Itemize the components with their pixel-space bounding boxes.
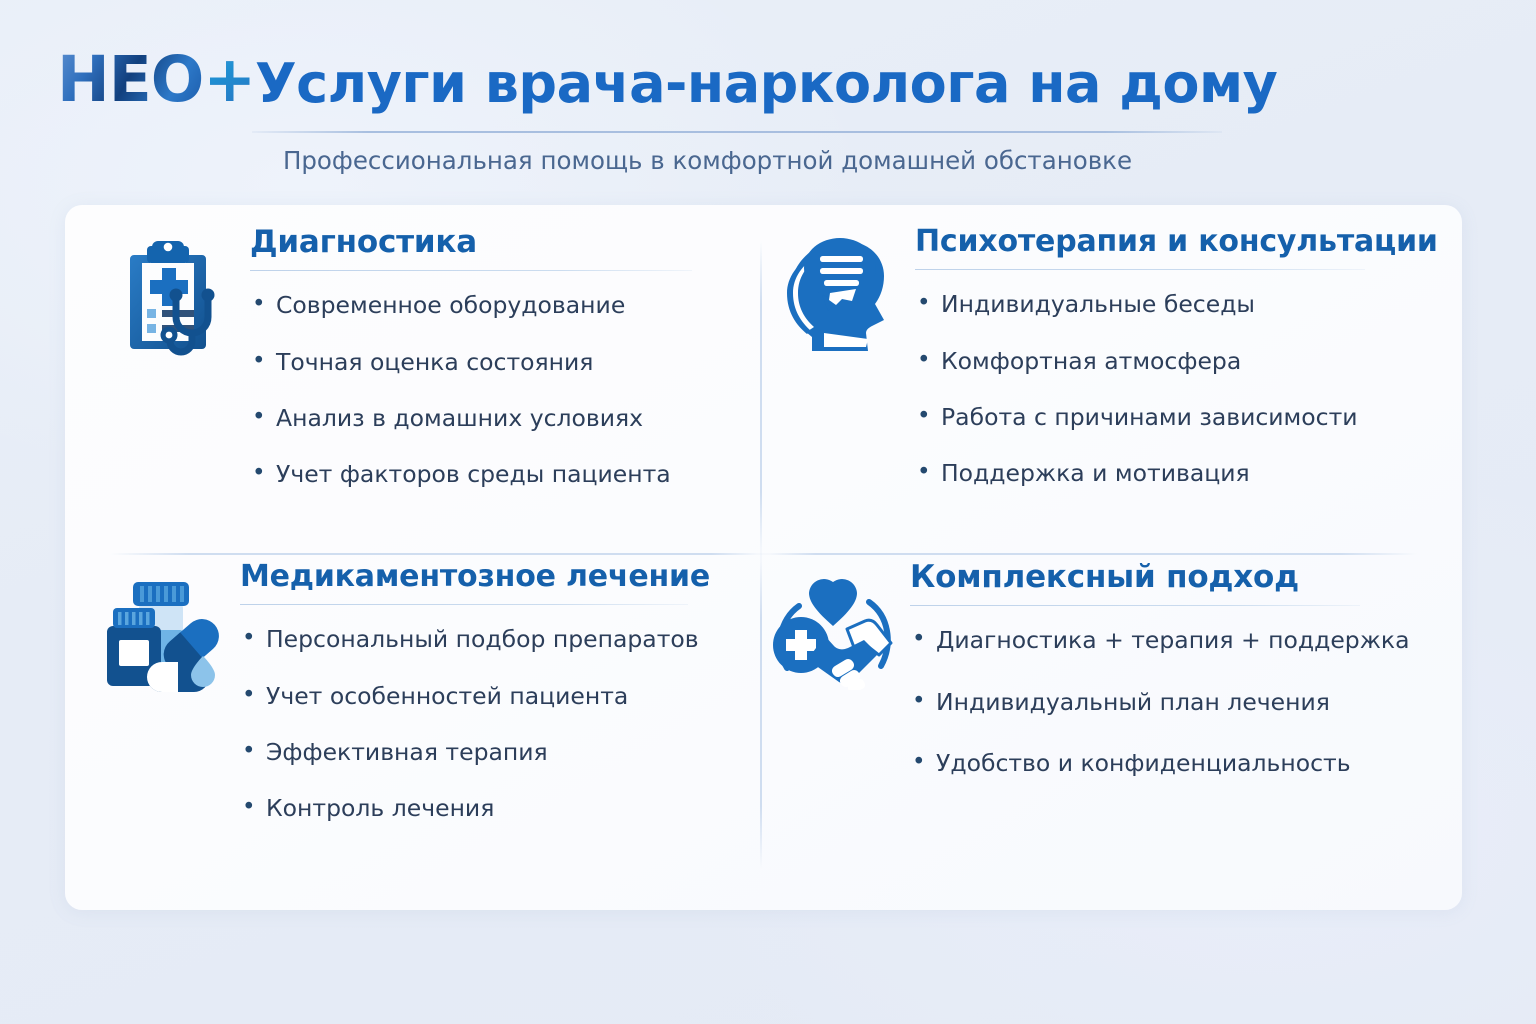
- list-item: Учет особенностей пациента: [240, 682, 755, 711]
- clipboard-stethoscope-icon: [105, 225, 240, 551]
- header-divider: [252, 131, 1222, 133]
- title-underline: [915, 269, 1365, 271]
- service-block-psychotherapy: Психотерапия и консультации Индивидуальн…: [770, 225, 1430, 551]
- feature-list: Индивидуальные беседы Комфортная атмосфе…: [915, 290, 1438, 489]
- service-block-medication: Медикаментозное лечение Персональный под…: [95, 560, 755, 886]
- brand-logo: НЕО+: [57, 48, 255, 111]
- service-title: Диагностика: [250, 225, 755, 260]
- service-body: Диагностика Современное оборудование Точ…: [240, 225, 755, 551]
- page-subtitle: Профессиональная помощь в комфортной дом…: [0, 146, 1415, 175]
- list-item: Индивидуальный план лечения: [910, 688, 1430, 717]
- logo-text: НЕО: [57, 43, 203, 116]
- list-item: Работа с причинами зависимости: [915, 403, 1438, 432]
- list-item: Анализ в домашних условиях: [250, 404, 755, 433]
- feature-list: Персональный подбор препаратов Учет особ…: [240, 625, 755, 824]
- list-item: Эффективная терапия: [240, 738, 755, 767]
- list-item: Комфортная атмосфера: [915, 347, 1438, 376]
- title-underline: [910, 605, 1360, 607]
- service-title: Комплексный подход: [910, 560, 1430, 595]
- list-item: Контроль лечения: [240, 794, 755, 823]
- title-underline: [250, 270, 692, 272]
- list-item: Персональный подбор препаратов: [240, 625, 755, 654]
- list-item: Точная оценка состояния: [250, 348, 755, 377]
- head-speech-bubble-icon: [770, 225, 905, 551]
- list-item: Учет факторов среды пациента: [250, 460, 755, 489]
- service-body: Психотерапия и консультации Индивидуальн…: [905, 225, 1438, 551]
- list-item: Диагностика + терапия + поддержка: [910, 626, 1430, 655]
- medication-bottles-pills-icon: [95, 560, 230, 886]
- service-title: Психотерапия и консультации: [915, 225, 1438, 259]
- service-title: Медикаментозное лечение: [240, 560, 755, 594]
- service-block-complex-approach: Комплексный подход Диагностика + терапия…: [765, 560, 1430, 886]
- service-body: Медикаментозное лечение Персональный под…: [230, 560, 755, 886]
- service-block-diagnostics: Диагностика Современное оборудование Точ…: [105, 225, 755, 551]
- feature-list: Диагностика + терапия + поддержка Индиви…: [910, 626, 1430, 778]
- feature-list: Современное оборудование Точная оценка с…: [250, 291, 755, 490]
- page-title: Услуги врача-нарколога на дому: [255, 52, 1277, 115]
- title-underline: [240, 604, 688, 606]
- list-item: Поддержка и мотивация: [915, 459, 1438, 488]
- list-item: Индивидуальные беседы: [915, 290, 1438, 319]
- logo-plus-icon: +: [203, 43, 255, 116]
- vertical-divider: [760, 241, 762, 869]
- list-item: Современное оборудование: [250, 291, 755, 320]
- services-card: Диагностика Современное оборудование Точ…: [65, 205, 1462, 910]
- header: НЕО+ Услуги врача-нарколога на дому Проф…: [0, 0, 1536, 195]
- horizontal-divider: [110, 553, 1417, 555]
- list-item: Удобство и конфиденциальность: [910, 749, 1430, 778]
- heart-handshake-cross-icon: [765, 560, 900, 886]
- service-body: Комплексный подход Диагностика + терапия…: [900, 560, 1430, 886]
